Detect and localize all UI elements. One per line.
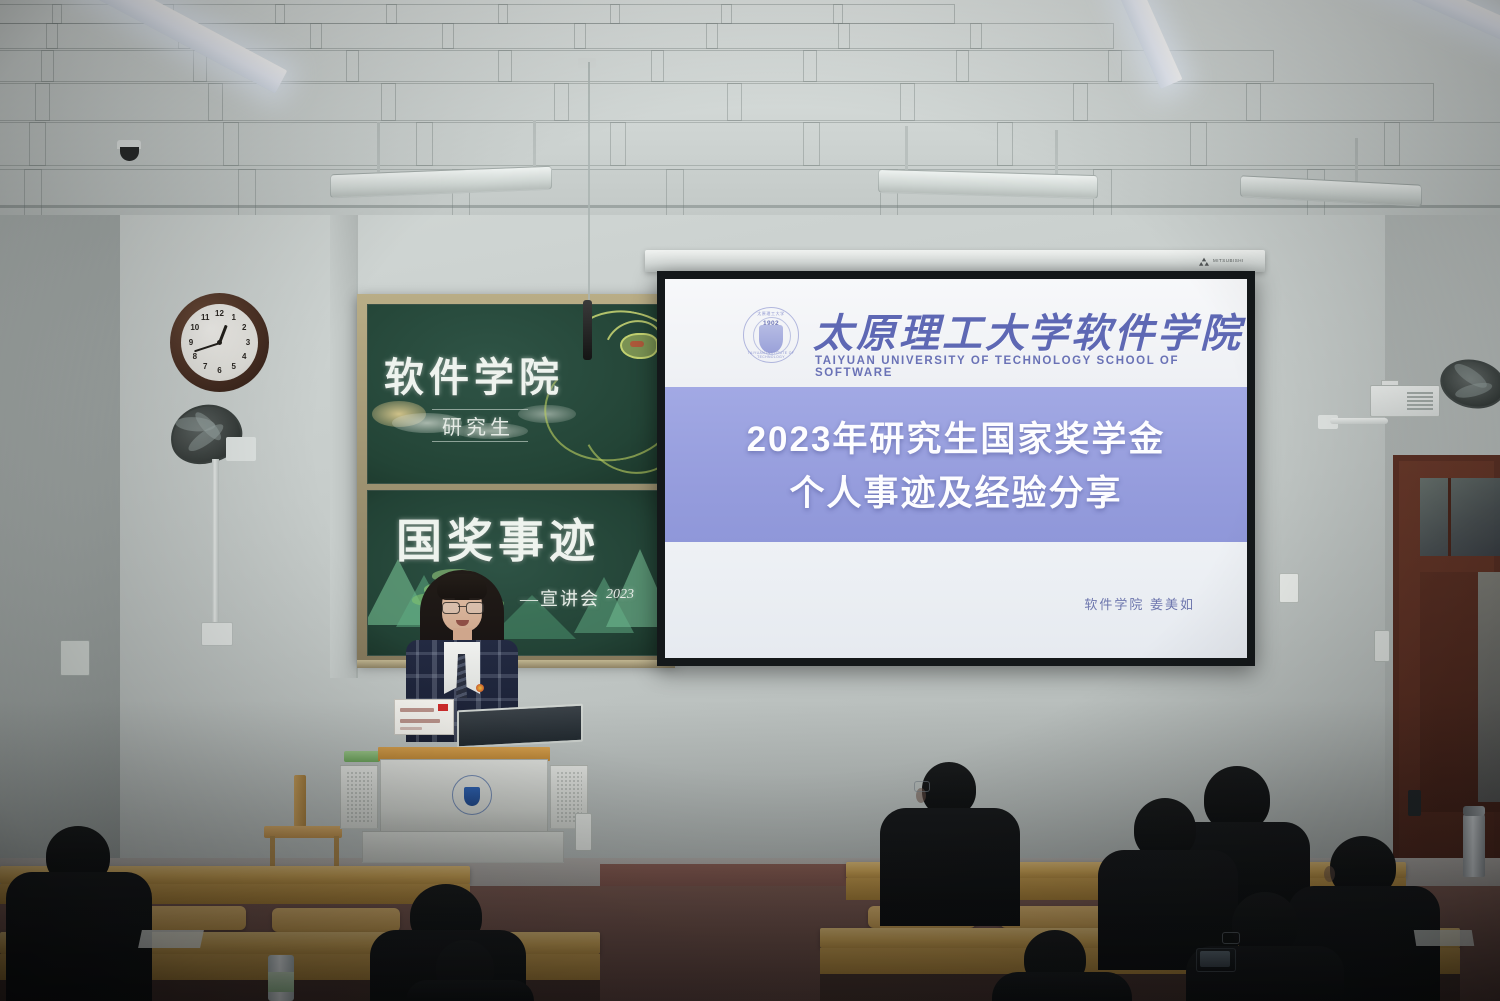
projector-brand-label: MITSUBISHI [1213, 258, 1244, 263]
conduit-junction-box [201, 622, 233, 646]
pendant-rod-1 [377, 122, 380, 172]
smartphone-screen[interactable] [1200, 951, 1230, 967]
slide-title-line-1: 2023年研究生国家奖学金 [665, 411, 1247, 462]
clock-numeral: 10 [189, 322, 201, 334]
blackboard-bottom-subtitle: —宣讲会 [520, 585, 600, 611]
podium-monitor[interactable] [457, 704, 583, 749]
crest-year-text: 1902 [744, 320, 798, 327]
ceiling-tile [275, 4, 397, 24]
clock-numeral: 2 [238, 322, 250, 334]
left-wall [0, 120, 120, 880]
wall-socket-center[interactable] [1279, 573, 1299, 603]
ceiling-tile [1108, 50, 1274, 82]
side-chair-back [294, 775, 306, 827]
ceiling-tile [1073, 83, 1261, 121]
clock-numeral: 8 [189, 351, 201, 363]
wall-socket-right[interactable] [1374, 630, 1390, 662]
projection-screen-housing [645, 250, 1265, 272]
door-glass-upper [1420, 478, 1500, 556]
classroom-photo-scene: 121234567891011 软件学院 [0, 0, 1500, 1001]
slide-title-band: 2023年研究生国家奖学金 个人事迹及经验分享 [665, 387, 1247, 542]
clock-numeral: 6 [214, 365, 226, 377]
ceiling-tile [900, 83, 1088, 121]
clock-numeral: 9 [185, 337, 197, 349]
ceiling-tile [554, 83, 742, 121]
ceiling-tile [381, 83, 569, 121]
projection-screen-frame: 太原理工大学 1902 TAIYUAN INSTITUTE OF TECHNOL… [657, 271, 1255, 666]
wall-conduit-right [1330, 418, 1388, 424]
pendant-rod-5 [1355, 138, 1358, 182]
ceiling-tile [833, 4, 955, 24]
clock-numeral: 12 [214, 308, 226, 320]
paper-sheet-right [1414, 930, 1475, 946]
thermos-cap [1463, 806, 1485, 816]
ceiling-tile [208, 83, 396, 121]
ceiling-tile [310, 23, 454, 49]
lectern-podium [322, 731, 606, 861]
ceiling-tile [727, 83, 915, 121]
ceiling-tile [706, 23, 850, 49]
ceiling-tile [498, 4, 620, 24]
ceiling-tile [442, 23, 586, 49]
clock-minute-hand [194, 342, 220, 352]
ceiling-tile [35, 83, 223, 121]
clock-numeral: 4 [238, 351, 250, 363]
presenter-glasses-left [442, 602, 460, 614]
presentation-slide: 太原理工大学 1902 TAIYUAN INSTITUTE OF TECHNOL… [665, 279, 1247, 658]
ceiling-tile [956, 50, 1122, 82]
ceiling-tile [1384, 122, 1500, 166]
blackboard-top-title: 软件学院 [384, 345, 564, 403]
clock-numeral: 5 [228, 361, 240, 373]
wall-pillar [330, 178, 356, 678]
ceiling-tile [651, 50, 817, 82]
presenter-fringe [437, 574, 487, 600]
screen-cord-anchor [578, 58, 596, 68]
wall-vent-unit [1370, 385, 1440, 417]
ceiling-tile [970, 23, 1114, 49]
thermos-bottle [1463, 813, 1485, 877]
ceiling-tile [838, 23, 982, 49]
desk-seat-l2[interactable] [272, 908, 400, 932]
presenter-lapel-badge [476, 684, 484, 692]
blackboard-top-panel: 软件学院 研究生 [367, 304, 667, 484]
blackboard-top-subtitle: 研究生 [442, 411, 514, 440]
university-crest-icon: 太原理工大学 1902 TAIYUAN INSTITUTE OF TECHNOL… [743, 307, 799, 363]
clock-face: 121234567891011 [181, 304, 258, 381]
ceiling-tile [666, 169, 898, 215]
wall-conduit-pipe [212, 459, 219, 629]
podium-wall-switch[interactable] [575, 813, 592, 851]
podium-sign [394, 699, 454, 735]
slide-logotype-chinese: 太原理工大学软件学院 [813, 301, 1243, 359]
door-plate[interactable] [1408, 790, 1421, 816]
ceiling-tile [1246, 83, 1434, 121]
ceiling-tile [610, 4, 732, 24]
ceiling-tile [416, 122, 626, 166]
water-bottle-label [268, 972, 294, 992]
door-glass-side [1478, 572, 1500, 802]
crest-arc-top-text: 太原理工大学 [744, 311, 798, 317]
clock-center-pin [217, 340, 222, 345]
pendant-rod-4 [1055, 130, 1058, 176]
ceiling-tile [997, 122, 1207, 166]
podium-crest-icon [452, 775, 492, 815]
podium-base [362, 831, 564, 863]
screen-pull-handle[interactable] [583, 300, 592, 360]
ceiling-tile [386, 4, 508, 24]
paper-sheet-left [138, 930, 204, 948]
ceiling-tile [1190, 122, 1400, 166]
podium-crest-shield [464, 787, 480, 806]
slide-logotype-english: TAIYUAN UNIVERSITY OF TECHNOLOGY SCHOOL … [815, 355, 1247, 379]
slide-presenter-credit: 软件学院 姜美如 [1084, 594, 1195, 613]
podium-green-object [344, 751, 380, 762]
podium-speaker-left [340, 765, 378, 829]
ceiling-tile [223, 122, 433, 166]
ceiling-tile [346, 50, 512, 82]
ceiling-tile [803, 50, 969, 82]
clock-numeral: 3 [242, 337, 254, 349]
slide-title-line-2: 个人事迹及经验分享 [665, 465, 1247, 516]
slide-footer-band: 软件学院 姜美如 [665, 542, 1247, 658]
mitsubishi-logo-icon [1198, 257, 1210, 266]
ceiling-wall-joint [0, 205, 1500, 208]
ceiling-tile [574, 23, 718, 49]
podium-sign-flag-icon [438, 704, 448, 711]
ceiling-tile [803, 122, 1013, 166]
ceiling-tile [721, 4, 843, 24]
crest-arc-bottom-text: TAIYUAN INSTITUTE OF TECHNOLOGY [744, 351, 798, 359]
ceiling-tile [41, 50, 207, 82]
wall-outlet-box-left [60, 640, 90, 676]
clock-numeral: 11 [199, 312, 211, 324]
clock-numeral: 7 [199, 361, 211, 373]
ceiling-tile [24, 169, 256, 215]
slide-header-band: 太原理工大学 1902 TAIYUAN INSTITUTE OF TECHNOL… [665, 279, 1247, 387]
door-mullion [1448, 478, 1451, 556]
screen-pull-cord[interactable] [588, 62, 590, 312]
pendant-rod-2 [533, 120, 536, 172]
pendant-rod-3 [905, 126, 908, 174]
presenter-glasses-right [466, 602, 484, 614]
crest-shield [759, 325, 783, 353]
wall-clock: 121234567891011 [170, 293, 269, 392]
ceiling-tile [610, 122, 820, 166]
blackboard-bottom-year: 2023 [606, 587, 634, 603]
fan-wall-mount [226, 437, 256, 461]
